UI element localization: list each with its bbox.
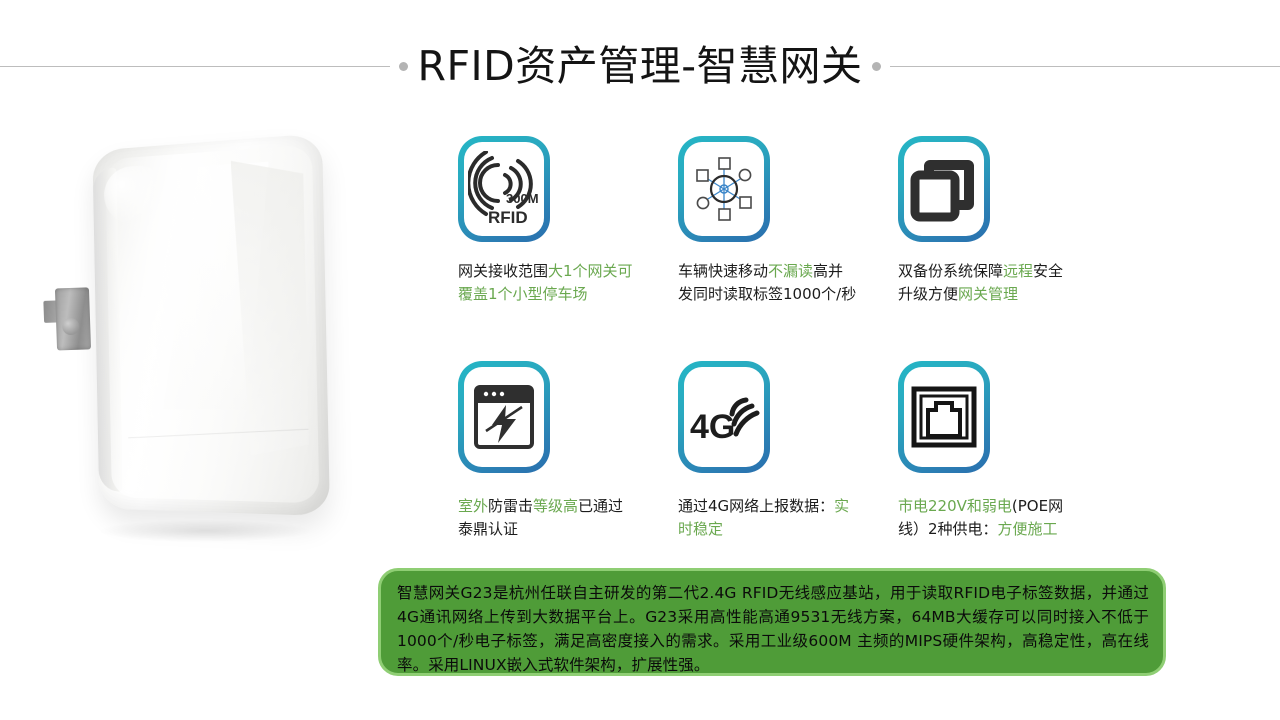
feature-caption: 车辆快速移动不漏读高并发同时读取标签1000个/秒 [678, 260, 858, 306]
caption-segment: 通过4G网络上报数据： [678, 497, 834, 515]
feature-caption: 网关接收范围大1个网关可覆盖1个小型停车场 [458, 260, 638, 306]
rfid-tech-label: RFID [488, 208, 528, 227]
lightning-surge-icon [458, 361, 550, 473]
caption-segment: 市电220V和弱电 [898, 497, 1012, 515]
feature-caption: 室外防雷击等级高已通过泰鼎认证 [458, 495, 638, 541]
slide-title-band: RFID资产管理-智慧网关 [0, 34, 1280, 98]
title-dot-left [399, 62, 408, 71]
four-g-label: 4G [690, 408, 735, 446]
title-rule-left [0, 66, 390, 67]
caption-segment: 不漏读 [768, 262, 813, 280]
caption-segment: 网关管理 [958, 285, 1018, 303]
feature-item-dual-backup: 双备份系统保障远程安全升级方便网关管理 [880, 136, 1100, 361]
page-title: RFID资产管理-智慧网关 [417, 46, 862, 87]
gateway-device-body [92, 133, 330, 516]
feature-item-surge-protection: 室外防雷击等级高已通过泰鼎认证 [440, 361, 660, 541]
product-description-box: 智慧网关G23是杭州任联自主研发的第二代2.4G RFID无线感应基站，用于读取… [378, 568, 1166, 676]
feature-item-concurrency: 车辆快速移动不漏读高并发同时读取标签1000个/秒 [660, 136, 880, 361]
caption-segment: 远程 [1003, 262, 1033, 280]
feature-caption: 双备份系统保障远程安全升级方便网关管理 [898, 260, 1078, 306]
caption-segment: 网关接收范围 [458, 262, 548, 280]
product-shadow [100, 520, 310, 542]
feature-caption: 市电220V和弱电(POE网线）2种供电：方便施工 [898, 495, 1078, 541]
caption-segment: 双备份系统保障 [898, 262, 1003, 280]
rfid-signal-icon: 300M RFID [458, 136, 550, 242]
title-rule-right [890, 66, 1280, 67]
title-dot-right [872, 62, 881, 71]
network-hub-icon [678, 136, 770, 242]
rfid-range-label: 300M [506, 191, 539, 206]
feature-item-power-options: 市电220V和弱电(POE网线）2种供电：方便施工 [880, 361, 1100, 541]
feature-grid: 300M RFID 网关接收范围大1个网关可覆盖1个小型停车场 [440, 136, 1100, 541]
device-facet-right [231, 156, 310, 457]
caption-segment: 车辆快速移动 [678, 262, 768, 280]
mounting-bracket [43, 287, 97, 351]
product-image [30, 120, 400, 560]
duplicate-squares-icon [898, 136, 990, 242]
caption-segment: 防雷击 [488, 497, 533, 515]
feature-item-4g-uplink: 4G 通过4G网络上报数据：实时稳定 [660, 361, 880, 541]
caption-segment: 方便施工 [998, 520, 1058, 538]
caption-segment: 室外 [458, 497, 488, 515]
feature-item-rfid-range: 300M RFID 网关接收范围大1个网关可覆盖1个小型停车场 [440, 136, 660, 361]
ethernet-port-icon [898, 361, 990, 473]
caption-segment: 等级高 [533, 497, 578, 515]
feature-caption: 通过4G网络上报数据：实时稳定 [678, 495, 858, 541]
four-g-signal-icon: 4G [678, 361, 770, 473]
